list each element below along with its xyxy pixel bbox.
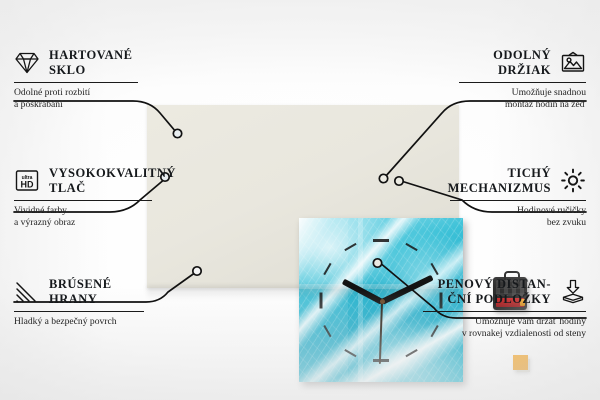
feature-desc-line2: bez zvuku bbox=[416, 217, 586, 229]
feature-title-line1: ODOLNÝ bbox=[493, 48, 551, 63]
feature-divider bbox=[14, 311, 144, 312]
infographic-stage: HARTOVANÉ SKLO Odolné proti rozbití a po… bbox=[0, 0, 600, 400]
foam-spacer-pad bbox=[513, 355, 528, 370]
feature-foam-spacers[interactable]: PENOVÝ DISTAN- ČNÍ PODLOŽKY Umožňuje vám… bbox=[396, 277, 586, 341]
diamond-icon bbox=[14, 50, 40, 76]
wall-mount-picture-icon bbox=[560, 50, 586, 76]
feature-divider bbox=[14, 200, 152, 201]
feature-divider bbox=[423, 311, 586, 312]
feature-desc-line1: Hladký a bezpečný povrch bbox=[14, 316, 144, 328]
feature-title-line1: VYSOKOKVALITNÝ bbox=[49, 166, 176, 181]
feature-title-line1: TICHÝ bbox=[508, 166, 551, 181]
svg-text:HD: HD bbox=[21, 180, 34, 190]
feature-title-line2: TLAČ bbox=[49, 181, 176, 196]
feature-desc-line1: Hodinové ručičky bbox=[416, 205, 586, 217]
feature-title-line2: ČNÍ PODLOŽKY bbox=[447, 292, 551, 307]
feature-desc-line2: a poškrábání bbox=[14, 99, 138, 111]
feature-hardened-glass[interactable]: HARTOVANÉ SKLO Odolné proti rozbití a po… bbox=[14, 48, 138, 112]
feature-beveled-edges[interactable]: BRÚSENÉ HRANY Hladký a bezpečný povrch bbox=[14, 277, 144, 328]
feature-desc-line1: Umožňuje snadnou bbox=[423, 87, 586, 99]
feature-durable-mount[interactable]: ODOLNÝ DRŽIAK Umožňuje snadnou montáž ho… bbox=[423, 48, 586, 112]
feature-high-quality-print[interactable]: ultra HD VYSOKOKVALITNÝ TLAČ Vividné far… bbox=[14, 166, 176, 230]
feature-desc-line1: Odolné proti rozbití bbox=[14, 87, 138, 99]
feature-title-line2: DRŽIAK bbox=[498, 63, 551, 78]
feature-desc-line2: a výrazný obraz bbox=[14, 217, 176, 229]
feature-title-line2: MECHANIZMUS bbox=[448, 181, 551, 196]
feature-silent-mechanism[interactable]: TICHÝ MECHANIZMUS Hodinové ručičky bez z… bbox=[416, 166, 586, 230]
feature-desc-line2: v rovnakej vzdialenosti od steny bbox=[396, 328, 586, 340]
feature-desc-line1: Umožňuje vám držať hodiny bbox=[396, 316, 586, 328]
feature-divider bbox=[459, 82, 586, 83]
feature-title-line2: HRANY bbox=[49, 292, 112, 307]
feature-divider bbox=[14, 82, 138, 83]
feature-title-line1: PENOVÝ DISTAN- bbox=[438, 277, 551, 292]
gear-icon bbox=[560, 168, 586, 194]
feature-title-line2: SKLO bbox=[49, 63, 132, 78]
feature-desc-line2: montáž hodin na zeď bbox=[423, 99, 586, 111]
ultra-hd-icon: ultra HD bbox=[14, 168, 40, 194]
feature-title-line1: BRÚSENÉ bbox=[49, 277, 112, 292]
product-photo bbox=[147, 105, 459, 288]
beveled-edges-icon bbox=[14, 279, 40, 305]
clock-tick bbox=[373, 239, 389, 242]
feature-divider bbox=[450, 200, 586, 201]
feature-title-line1: HARTOVANÉ bbox=[49, 48, 132, 63]
foam-pad-arrow-icon bbox=[560, 279, 586, 305]
feature-desc-line1: Vividné farby bbox=[14, 205, 176, 217]
